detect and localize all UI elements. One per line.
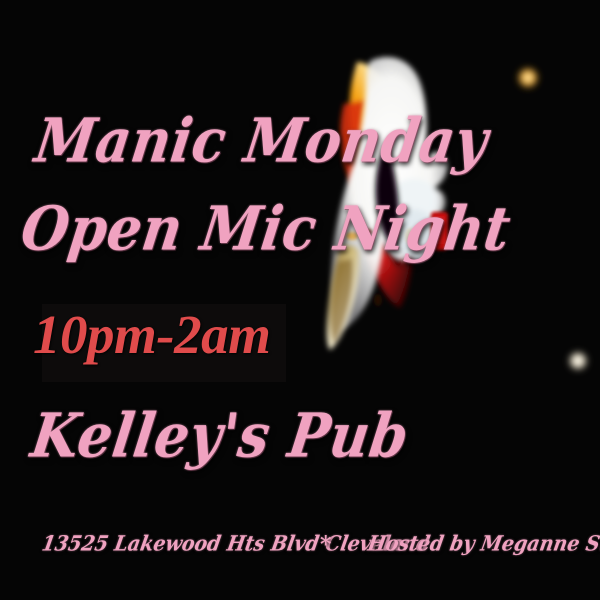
- bokeh-warm-dot: [515, 66, 541, 92]
- footer-separator: *: [320, 532, 332, 558]
- headline-line-1: Manic Monday: [31, 104, 492, 176]
- venue-name: Kelley's Pub: [27, 399, 413, 471]
- headline-line-2: Open Mic Night: [17, 192, 515, 264]
- flyer-canvas: Manic Monday Open Mic Night 10pm-2am Kel…: [0, 0, 600, 600]
- host-credit: Hosted by Meganne Stepka: [366, 532, 600, 556]
- bokeh-white-dot: [566, 350, 590, 374]
- event-time: 10pm-2am: [33, 303, 270, 366]
- flower-photo: [0, 0, 600, 600]
